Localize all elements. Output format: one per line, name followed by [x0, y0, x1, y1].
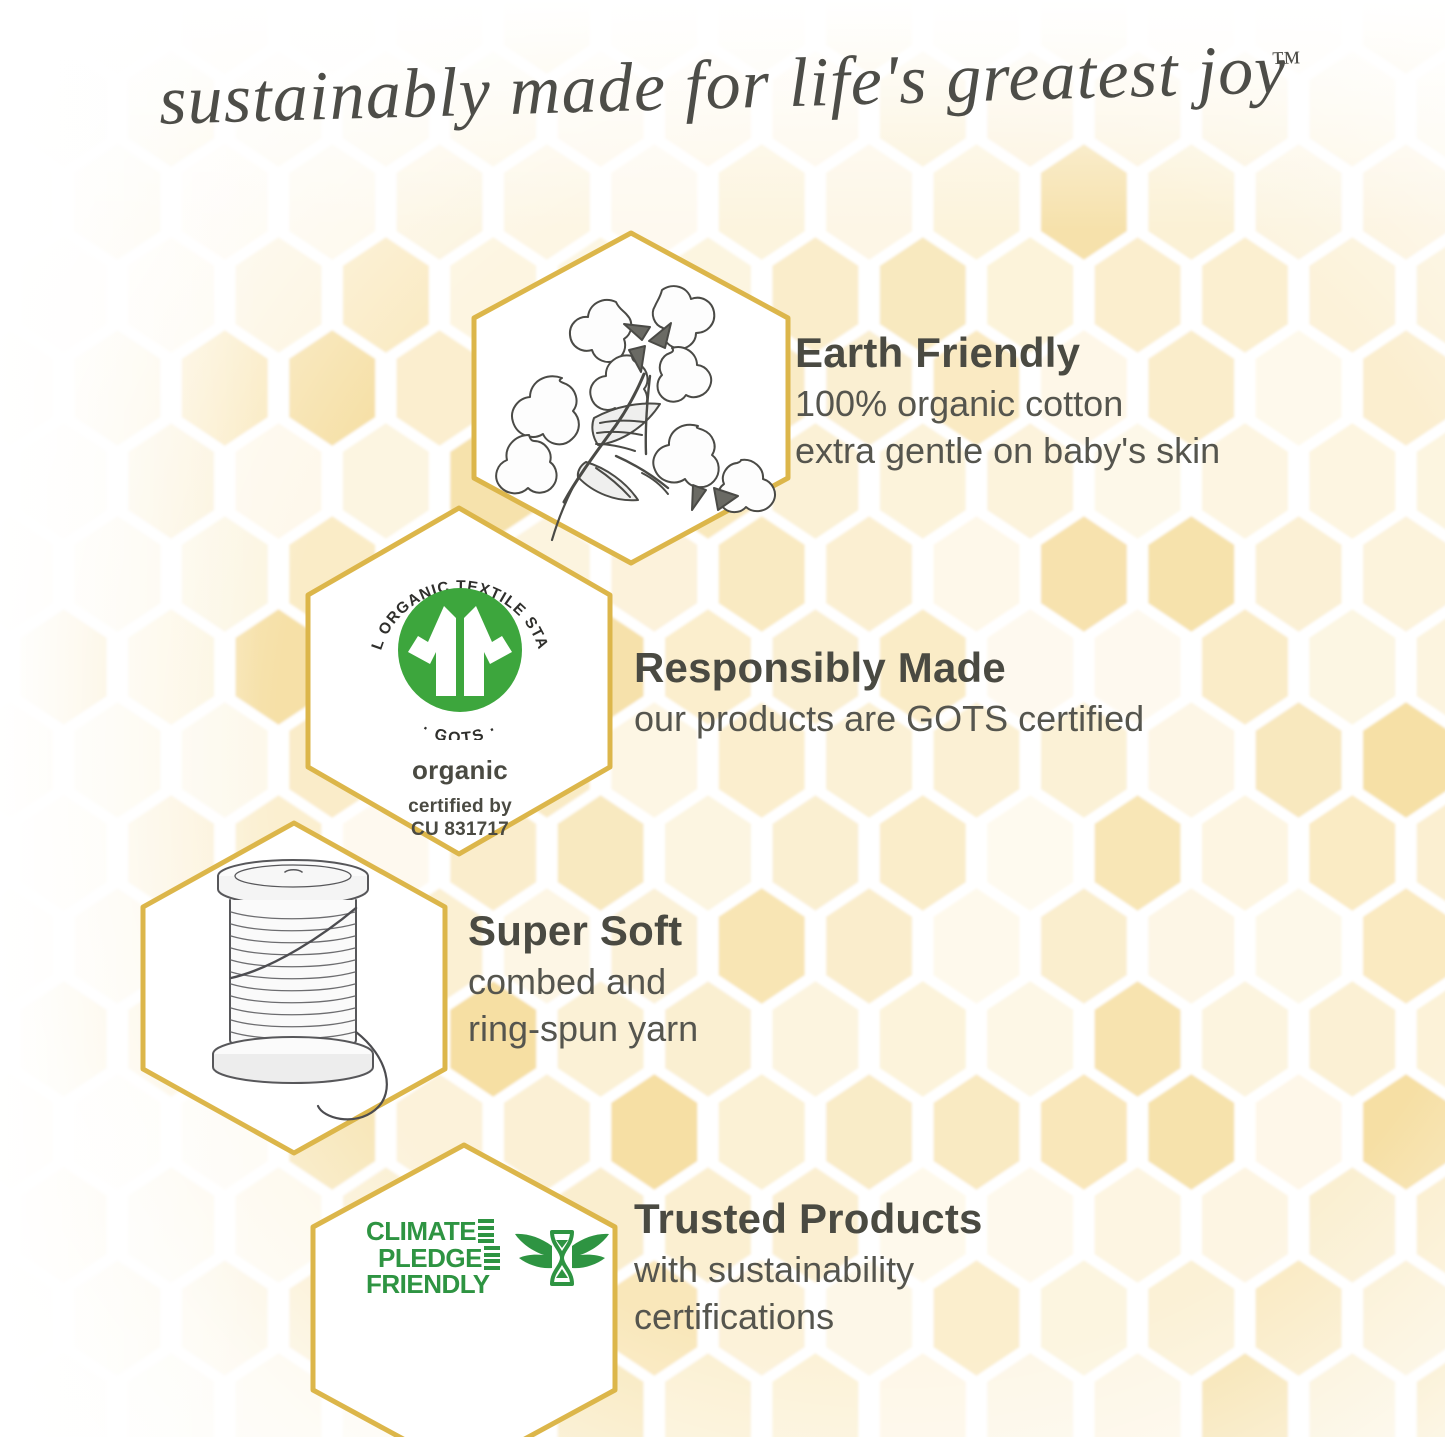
- feature-line: combed and: [468, 959, 1068, 1006]
- headline-script-text: sustainably made for life's greatest joy…: [93, 34, 1353, 142]
- feature-title: Super Soft: [468, 908, 1068, 953]
- promo-infographic: sustainably made for life's greatest joy…: [0, 0, 1445, 1437]
- feature-line: 100% organic cotton: [795, 381, 1395, 428]
- cpf-bars-icon: [484, 1246, 500, 1270]
- feature-line: extra gentle on baby's skin: [795, 428, 1395, 475]
- feature-text-responsibly-made: Responsibly Made our products are GOTS c…: [634, 645, 1334, 743]
- gots-certificate-number: CU 831717: [332, 818, 588, 841]
- gots-ring-bottom-text: · GOTS ·: [419, 720, 501, 740]
- feature-text-trusted-products: Trusted Products with sustainability cer…: [634, 1196, 1234, 1341]
- page-headline: sustainably made for life's greatest joy…: [0, 34, 1445, 144]
- feature-title: Earth Friendly: [795, 330, 1395, 375]
- climate-pledge-friendly-icon: CLIMATE PLEDGE FRIENDLY: [366, 1216, 610, 1300]
- feature-text-super-soft: Super Soft combed and ring-spun yarn: [468, 908, 1068, 1053]
- feature-title: Trusted Products: [634, 1196, 1234, 1241]
- gots-seal: GLOBAL ORGANIC TEXTILE STANDARD · GOTS ·: [332, 540, 588, 740]
- feature-hexagon-super-soft: [135, 818, 453, 1158]
- feature-text-earth-friendly: Earth Friendly 100% organic cotton extra…: [795, 330, 1395, 475]
- trademark-symbol: ™: [1270, 45, 1300, 79]
- cpf-bars-icon: [478, 1219, 494, 1243]
- cpf-line-3: FRIENDLY: [366, 1271, 490, 1298]
- feature-title: Responsibly Made: [634, 645, 1334, 690]
- winged-hourglass-icon: [514, 1216, 610, 1300]
- gots-organic-label: organic: [332, 755, 588, 786]
- cpf-line-2: PLEDGE: [378, 1245, 482, 1272]
- feature-line: our products are GOTS certified: [634, 696, 1334, 743]
- feature-line: ring-spun yarn: [468, 1006, 1068, 1053]
- gots-certified-by-label: certified by: [332, 795, 588, 818]
- cpf-line-1: CLIMATE: [366, 1218, 476, 1245]
- feature-line: certifications: [634, 1294, 1234, 1341]
- feature-line: with sustainability: [634, 1247, 1234, 1294]
- climate-pledge-wordmark: CLIMATE PLEDGE FRIENDLY: [366, 1218, 500, 1298]
- gots-certification-icon: GLOBAL ORGANIC TEXTILE STANDARD · GOTS ·…: [332, 540, 588, 841]
- headline-text: sustainably made for life's greatest joy: [158, 34, 1287, 140]
